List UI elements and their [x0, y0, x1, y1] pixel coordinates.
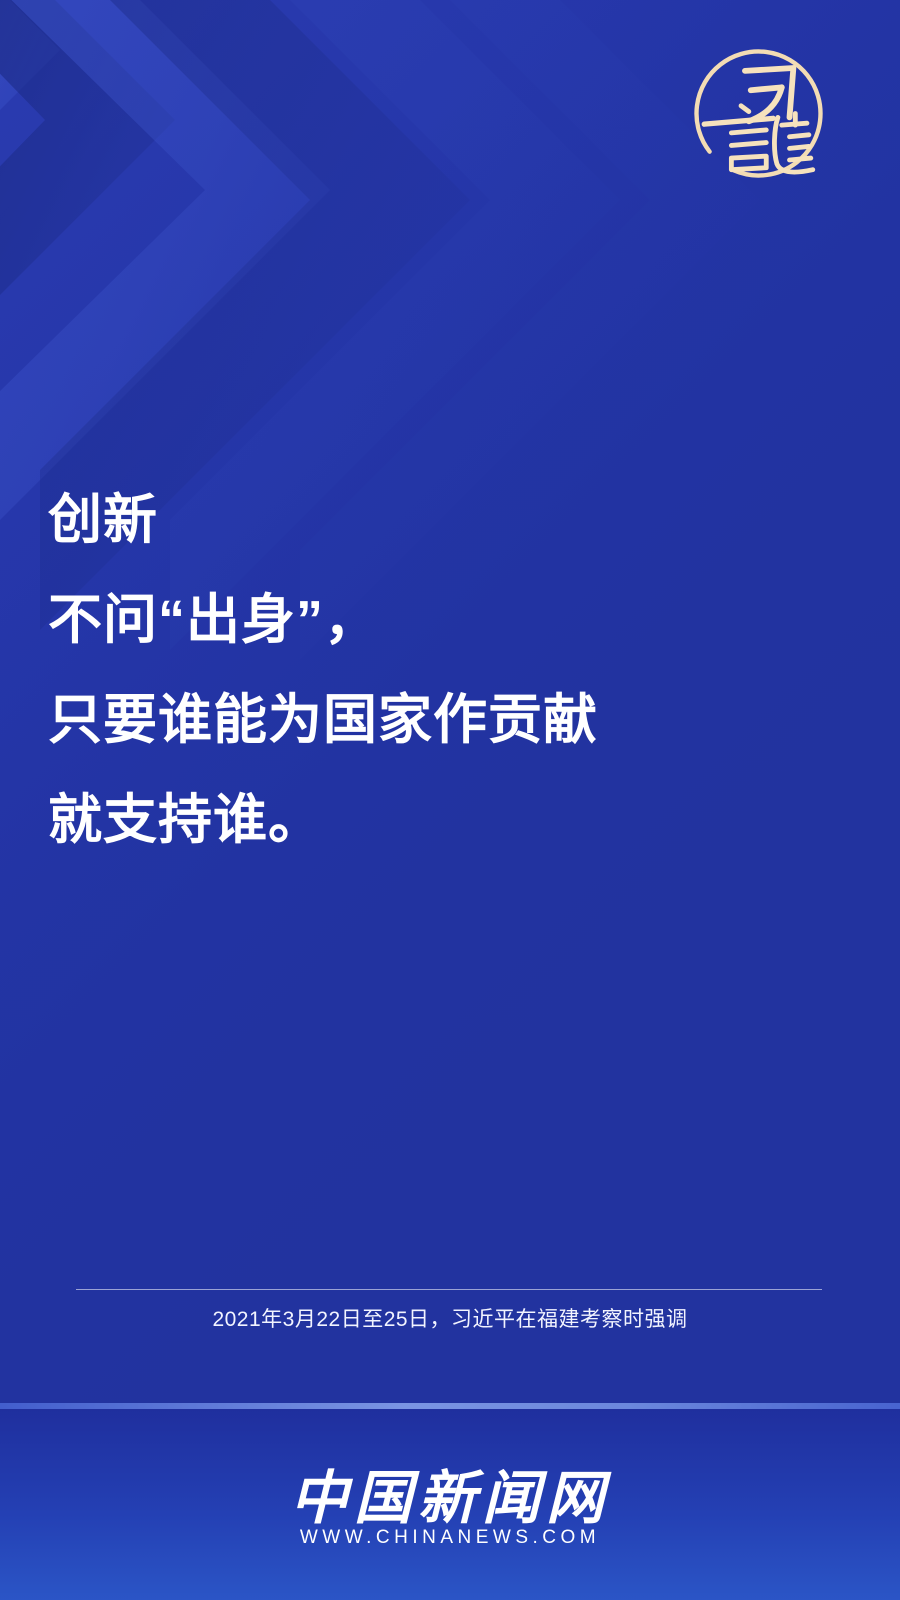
chinanews-brand-name: 中国新闻网 [0, 1451, 900, 1535]
poster-root: 创新 不问“出身”， 只要谁能为国家作贡献 就支持谁。 2021年3月22日至2… [0, 0, 900, 1600]
attribution-divider [76, 1289, 822, 1290]
attribution-text: 2021年3月22日至25日，习近平在福建考察时强调 [0, 1303, 900, 1333]
seal-icon [681, 36, 836, 191]
quote-line-4: 就支持谁。 [48, 770, 848, 870]
xi-yan-dao-seal-logo [681, 36, 836, 191]
chinanews-brand-url: WWW.CHINANEWS.COM [0, 1527, 900, 1549]
quote-line-2: 不问“出身”， [48, 570, 848, 670]
quote-line-3: 只要谁能为国家作贡献 [48, 670, 848, 770]
quote-block: 创新 不问“出身”， 只要谁能为国家作贡献 就支持谁。 [48, 470, 848, 870]
quote-line-1: 创新 [48, 470, 848, 570]
footer-bar: 中国新闻网 WWW.CHINANEWS.COM [0, 1409, 900, 1600]
seal-char-xi [745, 68, 793, 121]
